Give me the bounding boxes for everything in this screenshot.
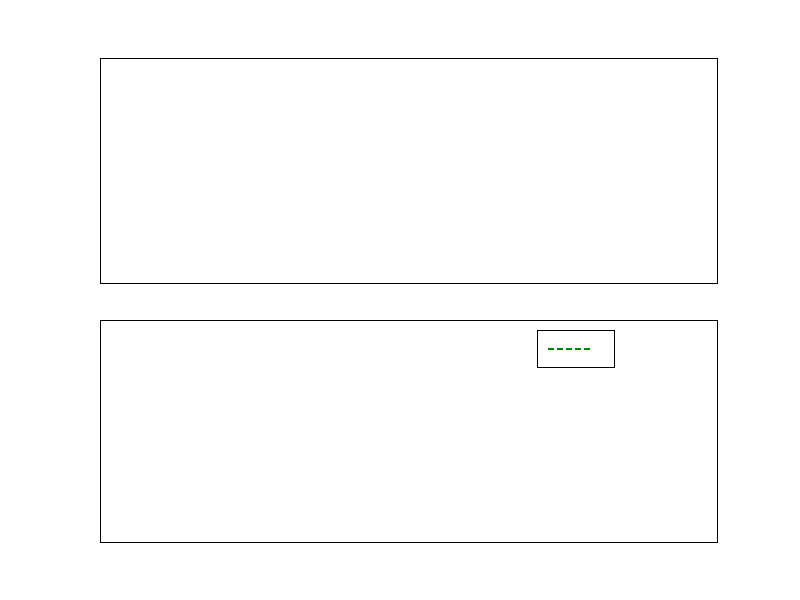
top-panel-xtick-labels: [100, 288, 718, 310]
bottom-panel-xtick-labels: [100, 547, 718, 569]
matplotlib-figure: [0, 0, 800, 600]
bottom-panel-ytick-labels: [6, 320, 98, 543]
legend[interactable]: [537, 330, 615, 368]
top-panel-axes: [100, 58, 718, 284]
bottom-panel-axes: [100, 320, 718, 543]
histogram-bars-layer: [101, 59, 717, 283]
top-panel-ytick-labels: [6, 58, 98, 284]
cumulative-curve-layer: [101, 321, 717, 542]
legend-dashed-line-icon: [548, 348, 590, 350]
